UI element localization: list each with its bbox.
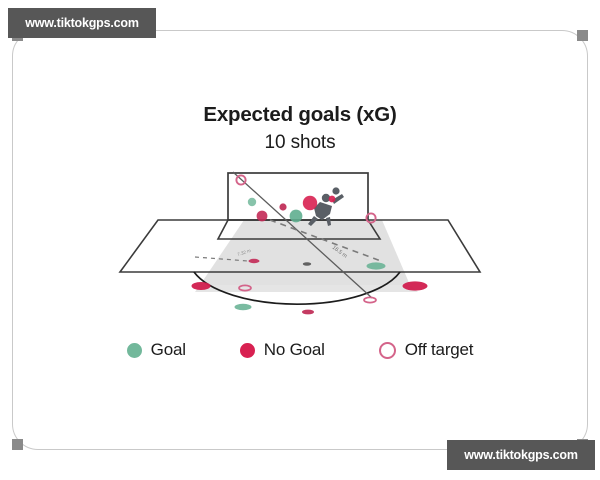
- shot-marker-no-goal[interactable]: [329, 196, 336, 203]
- legend-item-off-target[interactable]: Off target: [379, 340, 474, 360]
- xg-shot-map: 16.5 m 7.32 m: [100, 160, 500, 320]
- legend-label-off-target: Off target: [405, 340, 474, 360]
- shot-marker-no-goal[interactable]: [403, 281, 428, 290]
- shot-marker-no-goal[interactable]: [303, 262, 311, 265]
- corner-marker-top-right: [577, 30, 588, 41]
- shot-marker-no-goal[interactable]: [192, 282, 211, 290]
- shot-marker-off-target[interactable]: [364, 297, 376, 302]
- shot-marker-no-goal[interactable]: [303, 196, 317, 210]
- shot-marker-no-goal[interactable]: [249, 259, 260, 263]
- chart-legend: Goal No Goal Off target: [0, 340, 600, 360]
- legend-item-goal[interactable]: Goal: [127, 340, 186, 360]
- shot-marker-no-goal[interactable]: [279, 203, 286, 210]
- hollow-circle-icon: [379, 342, 396, 359]
- shot-marker-goal[interactable]: [290, 210, 303, 223]
- shot-marker-goal[interactable]: [248, 198, 256, 206]
- legend-label-goal: Goal: [151, 340, 186, 360]
- legend-item-no-goal[interactable]: No Goal: [240, 340, 325, 360]
- corner-marker-bottom-left: [12, 439, 23, 450]
- watermark-top: www.tiktokgps.com: [8, 8, 156, 38]
- legend-label-no-goal: No Goal: [264, 340, 325, 360]
- page-subtitle: 10 shots: [0, 132, 600, 154]
- page-title: Expected goals (xG): [0, 103, 600, 127]
- shot-marker-goal[interactable]: [367, 262, 386, 269]
- watermark-bottom: www.tiktokgps.com: [447, 440, 595, 470]
- shot-marker-no-goal[interactable]: [302, 310, 314, 315]
- shot-marker-goal[interactable]: [235, 304, 252, 310]
- filled-circle-icon: [240, 343, 255, 358]
- shot-marker-no-goal[interactable]: [257, 211, 268, 222]
- shot-cone-shade: [195, 220, 418, 292]
- filled-circle-icon: [127, 343, 142, 358]
